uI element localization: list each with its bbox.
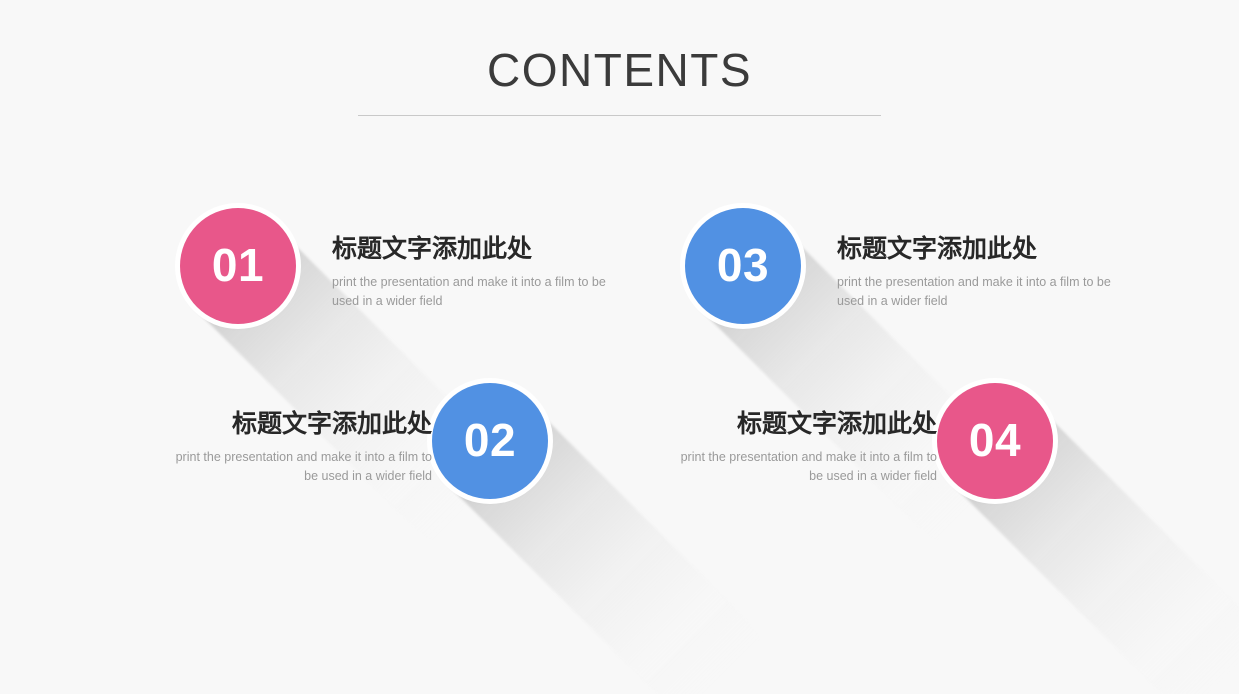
badge-number-label-04: 04 (969, 417, 1021, 463)
number-badge-02[interactable]: 02 (432, 383, 548, 499)
item-heading-01: 标题文字添加此处 (332, 234, 612, 266)
contents-item-03[interactable]: 03 标题文字添加此处 print the presentation and m… (665, 196, 1225, 376)
contents-item-02[interactable]: 02 标题文字添加此处 print the presentation and m… (160, 371, 720, 551)
item-heading-02: 标题文字添加此处 (160, 409, 440, 441)
contents-item-04[interactable]: 04 标题文字添加此处 print the presentation and m… (665, 371, 1225, 551)
number-badge-04[interactable]: 04 (937, 383, 1053, 499)
page-title: CONTENTS (0, 42, 1239, 98)
item-description-04: print the presentation and make it into … (665, 448, 945, 486)
item-description-03: print the presentation and make it into … (837, 273, 1117, 311)
item-text-block-03: 标题文字添加此处 print the presentation and make… (837, 234, 1117, 311)
badge-number-label-03: 03 (717, 242, 769, 288)
item-description-02: print the presentation and make it into … (160, 448, 440, 486)
item-text-block-04: 标题文字添加此处 print the presentation and make… (665, 409, 945, 486)
number-badge-03[interactable]: 03 (685, 208, 801, 324)
badge-number-label-02: 02 (464, 417, 516, 463)
item-description-01: print the presentation and make it into … (332, 273, 612, 311)
badge-number-label-01: 01 (212, 242, 264, 288)
item-text-block-01: 标题文字添加此处 print the presentation and make… (332, 234, 612, 311)
item-heading-04: 标题文字添加此处 (665, 409, 945, 441)
item-heading-03: 标题文字添加此处 (837, 234, 1117, 266)
item-text-block-02: 标题文字添加此处 print the presentation and make… (160, 409, 440, 486)
slide-header: CONTENTS (0, 0, 1239, 130)
number-badge-01[interactable]: 01 (180, 208, 296, 324)
contents-item-01[interactable]: 01 标题文字添加此处 print the presentation and m… (160, 196, 720, 376)
title-divider (358, 115, 881, 116)
contents-slide: CONTENTS 01 标题文字添加此处 print the presentat… (0, 0, 1239, 694)
